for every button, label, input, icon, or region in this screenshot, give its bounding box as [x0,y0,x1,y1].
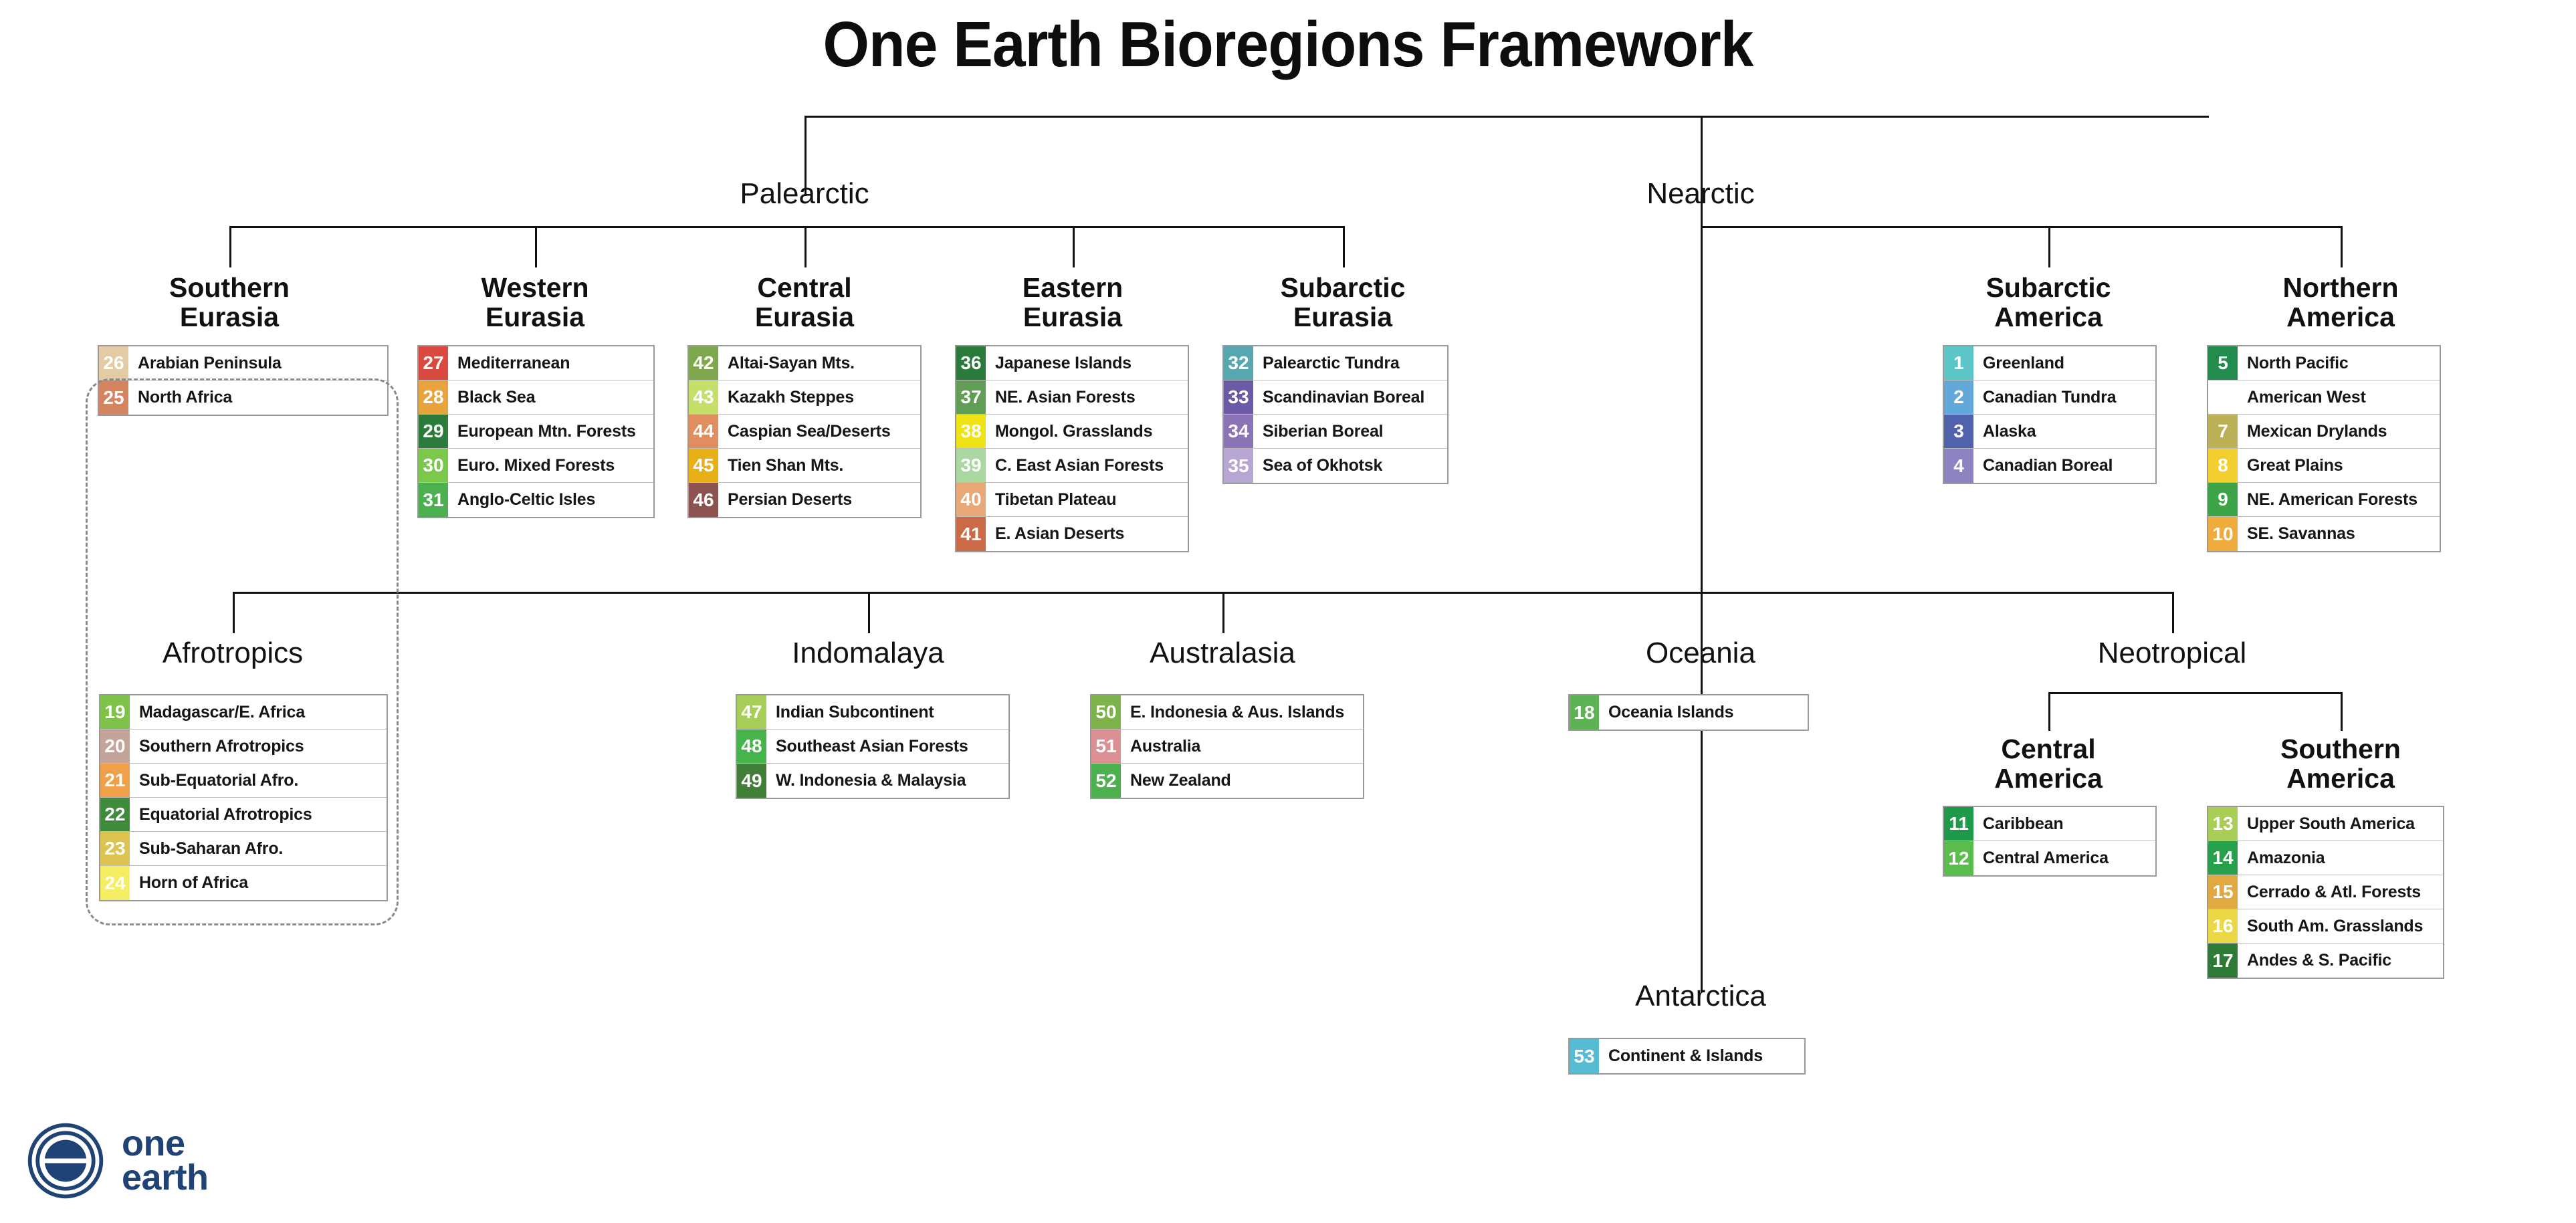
group-afrotropics: 19Madagascar/E. Africa20Southern Afrotro… [99,694,388,901]
bioregion-row[interactable]: 33Scandinavian Boreal [1224,380,1447,415]
subrealm-subarctic-eurasia: Subarctic Eurasia [1209,273,1477,332]
realm-nearctic: Nearctic [1567,179,1834,209]
connector-southern-eurasia [229,226,231,267]
bioregion-row[interactable]: 20Southern Afrotropics [100,730,387,764]
bioregion-label: Southern Afrotropics [130,730,387,763]
bioregion-label: Mongol. Grasslands [986,415,1188,448]
bioregion-number: 10 [2208,517,2238,551]
bioregion-row[interactable]: 50E. Indonesia & Aus. Islands [1091,695,1363,730]
bioregion-row[interactable]: 17Andes & S. Pacific [2208,943,2443,978]
bioregion-label: Scandinavian Boreal [1253,380,1447,414]
bioregion-label: NE. Asian Forests [986,380,1188,414]
bioregion-number: 11 [1944,807,1973,841]
one-earth-logo[interactable]: one earth [27,1122,209,1200]
bioregion-number: 33 [1224,380,1253,414]
bioregion-label: Altai-Sayan Mts. [718,346,920,380]
bioregion-number: 36 [956,346,986,380]
group-indomalaya: 47Indian Subcontinent48Southeast Asian F… [736,694,1010,799]
bioregion-label: American West [2238,380,2440,414]
bioregion-number: 32 [1224,346,1253,380]
bioregion-row[interactable]: 7Mexican Drylands [2208,415,2440,449]
subrealm-eastern-eurasia: Eastern Eurasia [939,273,1206,332]
bioregion-label: Black Sea [448,380,653,414]
bioregion-number: 14 [2208,841,2238,875]
bioregion-number: 7 [2208,415,2238,448]
bioregion-row[interactable]: 12Central America [1944,841,2155,875]
realm-oceania: Oceania [1567,639,1834,668]
bioregion-row[interactable]: 14Amazonia [2208,841,2443,875]
bioregion-label: Oceania Islands [1599,695,1808,730]
bioregion-label: Equatorial Afrotropics [130,798,387,831]
bioregion-row[interactable]: 44Caspian Sea/Deserts [689,415,920,449]
bioregion-row[interactable]: 24Horn of Africa [100,866,387,900]
connector-australasia [1222,592,1224,633]
bioregion-row[interactable]: 41E. Asian Deserts [956,517,1188,551]
connector-northern-america [2341,226,2343,267]
bioregion-list: 11Caribbean12Central America [1943,806,2157,877]
bioregion-list: 53Continent & Islands [1568,1038,1806,1075]
bioregion-label: Tibetan Plateau [986,483,1188,516]
bioregion-row[interactable]: 49W. Indonesia & Malaysia [737,764,1008,798]
bioregion-list: 13Upper South America14Amazonia15Cerrado… [2207,806,2444,979]
bioregion-number: 2 [1944,380,1973,414]
bioregion-number: 53 [1570,1039,1599,1073]
group-oceania: 18Oceania Islands [1568,694,1809,731]
bioregion-list: 36Japanese Islands37NE. Asian Forests38M… [955,345,1189,552]
logo-line-one: one [122,1127,209,1161]
bioregion-row[interactable]: 3Alaska [1944,415,2155,449]
connector-indomalaya [868,592,870,633]
bioregion-list: 47Indian Subcontinent48Southeast Asian F… [736,694,1010,799]
bioregion-label: Sea of Okhotsk [1253,449,1447,483]
bioregion-label: W. Indonesia & Malaysia [766,764,1008,798]
bioregion-number: 34 [1224,415,1253,448]
subrealm-central-eurasia: Central Eurasia [671,273,938,332]
bioregion-number: 26 [99,346,128,380]
bioregion-row[interactable]: 45Tien Shan Mts. [689,449,920,483]
bioregion-row[interactable]: 18Oceania Islands [1570,695,1808,730]
bioregion-row[interactable]: 46Persian Deserts [689,483,920,517]
bioregion-label: Anglo-Celtic Isles [448,483,653,517]
bioregion-number: 35 [1224,449,1253,483]
bioregion-label: SE. Savannas [2238,517,2440,551]
bioregion-number: 17 [2208,943,2238,978]
bioregion-row[interactable]: 10SE. Savannas [2208,517,2440,551]
group-subarctic-america: 1Greenland2Canadian Tundra3Alaska4Canadi… [1943,345,2157,484]
bioregion-number: 5 [2208,346,2238,380]
bioregion-label: Amazonia [2238,841,2443,875]
bioregion-label: Continent & Islands [1599,1039,1804,1073]
bioregion-number: 46 [689,483,718,517]
connector-palearctic-bus [229,226,1345,228]
bioregion-row[interactable]: 48Southeast Asian Forests [737,730,1008,764]
group-southern-eurasia: 26Arabian Peninsula25North Africa [98,345,389,416]
bioregion-row[interactable]: 4Canadian Boreal [1944,449,2155,483]
connector-central-spine [1701,116,1703,992]
bioregion-label: Palearctic Tundra [1253,346,1447,380]
realm-afrotropics: Afrotropics [99,639,366,668]
bioregion-list: 18Oceania Islands [1568,694,1809,731]
group-eastern-eurasia: 36Japanese Islands37NE. Asian Forests38M… [955,345,1189,552]
page-title: One Earth Bioregions Framework [90,8,2486,82]
realm-australasia: Australasia [1089,639,1356,668]
bioregion-row[interactable]: 40Tibetan Plateau [956,483,1188,517]
globe-icon [27,1122,104,1200]
realm-indomalaya: Indomalaya [734,639,1002,668]
bioregion-label: Australia [1121,730,1363,763]
bioregion-label: NE. American Forests [2238,483,2440,516]
bioregion-number: 20 [100,730,130,763]
bioregion-number: 44 [689,415,718,448]
bioregion-label: Mediterranean [448,346,653,380]
bioregion-label: Euro. Mixed Forests [448,449,653,482]
bioregion-label: North Africa [128,380,387,415]
bioregion-label: Alaska [1973,415,2155,448]
bioregion-number: 16 [2208,909,2238,943]
bioregion-number: 8 [2208,449,2238,482]
bioregion-number: 1 [1944,346,1973,380]
group-central-eurasia: 42Altai-Sayan Mts.43Kazakh Steppes44Casp… [687,345,922,518]
connector-afrotropics [233,592,235,633]
connector-southern-america [2341,692,2343,731]
bioregion-list: 1Greenland2Canadian Tundra3Alaska4Canadi… [1943,345,2157,484]
bioregion-row[interactable]: 31Anglo-Celtic Isles [419,483,653,517]
bioregion-row[interactable]: 8Great Plains [2208,449,2440,483]
connector-western-eurasia [535,226,537,267]
bioregion-list: 27Mediterranean28Black Sea29European Mtn… [417,345,655,518]
bioregion-row[interactable]: 21Sub-Equatorial Afro. [100,764,387,798]
bioregion-row[interactable]: 32Palearctic Tundra [1224,346,1447,380]
bioregion-number: 49 [737,764,766,798]
bioregion-row[interactable]: 30Euro. Mixed Forests [419,449,653,483]
bioregion-label: European Mtn. Forests [448,415,653,448]
bioregion-label: Madagascar/E. Africa [130,695,387,729]
bioregion-number: 9 [2208,483,2238,516]
subrealm-central-america: Central America [1915,734,2182,794]
bioregion-list: 42Altai-Sayan Mts.43Kazakh Steppes44Casp… [687,345,922,518]
bioregion-label: Great Plains [2238,449,2440,482]
bioregion-number: 42 [689,346,718,380]
bioregion-label: New Zealand [1121,764,1363,798]
connector-subarctic-eurasia [1343,226,1345,267]
bioregion-row[interactable]: 22Equatorial Afrotropics [100,798,387,832]
bioregion-row[interactable]: 2Canadian Tundra [1944,380,2155,415]
bioregion-row[interactable]: 42Altai-Sayan Mts. [689,346,920,380]
bioregion-row[interactable]: 19Madagascar/E. Africa [100,695,387,730]
subrealm-southern-eurasia: Southern Eurasia [96,273,363,332]
bioregion-row[interactable]: 51Australia [1091,730,1363,764]
group-western-eurasia: 27Mediterranean28Black Sea29European Mtn… [417,345,655,518]
bioregion-number: 48 [737,730,766,763]
bioregion-number: 24 [100,866,130,900]
bioregion-number: 23 [100,832,130,865]
bioregion-row[interactable]: 16South Am. Grasslands [2208,909,2443,943]
bioregion-number: 13 [2208,807,2238,841]
bioregion-label: Sub-Equatorial Afro. [130,764,387,797]
bioregion-row[interactable]: 13Upper South America [2208,807,2443,841]
bioregion-row[interactable]: 36Japanese Islands [956,346,1188,380]
bioregion-row[interactable]: 9NE. American Forests [2208,483,2440,517]
bioregion-row[interactable]: 26Arabian Peninsula [99,346,387,380]
bioregion-number: 47 [737,695,766,729]
bioregion-label: Persian Deserts [718,483,920,517]
bioregion-label: E. Indonesia & Aus. Islands [1121,695,1363,729]
bioregion-number: 41 [956,517,986,551]
bioregion-row[interactable]: 15Cerrado & Atl. Forests [2208,875,2443,909]
group-antarctica: 53Continent & Islands [1568,1038,1806,1075]
bioregion-label: Siberian Boreal [1253,415,1447,448]
bioregion-label: Caribbean [1973,807,2155,841]
bioregion-number: 51 [1091,730,1121,763]
bioregion-number: 40 [956,483,986,516]
bioregion-row[interactable]: 52New Zealand [1091,764,1363,798]
bioregion-number: 25 [99,380,128,415]
bioregion-list: 50E. Indonesia & Aus. Islands51Australia… [1090,694,1364,799]
bioregion-label: Greenland [1973,346,2155,380]
bioregion-row[interactable]: 39C. East Asian Forests [956,449,1188,483]
realm-antarctica: Antarctica [1567,982,1834,1011]
bioregion-label: Canadian Boreal [1973,449,2155,483]
connector-second-tier-bus [233,592,2172,594]
bioregion-label: Arabian Peninsula [128,346,387,380]
bioregion-number: 30 [419,449,448,482]
logo-line-earth: earth [122,1161,209,1195]
bioregion-number: 3 [1944,415,1973,448]
group-central-america: 11Caribbean12Central America [1943,806,2157,877]
bioregion-row[interactable]: 6American West [2208,380,2440,415]
connector-root-horizontal [804,116,2209,118]
bioregion-label: Southeast Asian Forests [766,730,1008,763]
bioregion-number: 27 [419,346,448,380]
bioregion-label: Horn of Africa [130,866,387,900]
bioregion-row[interactable]: 43Kazakh Steppes [689,380,920,415]
subrealm-northern-america: Northern America [2207,273,2474,332]
bioregion-label: Cerrado & Atl. Forests [2238,875,2443,909]
group-australasia: 50E. Indonesia & Aus. Islands51Australia… [1090,694,1364,799]
bioregion-row[interactable]: 27Mediterranean [419,346,653,380]
bioregion-row[interactable]: 5North Pacific [2208,346,2440,380]
bioregion-label: C. East Asian Forests [986,449,1188,482]
connector-neotropical-bus [2048,692,2343,694]
bioregion-label: E. Asian Deserts [986,517,1188,551]
connector-eastern-eurasia [1073,226,1075,267]
bioregion-row[interactable]: 37NE. Asian Forests [956,380,1188,415]
bioregion-label: Tien Shan Mts. [718,449,920,482]
bioregion-number: 4 [1944,449,1973,483]
group-subarctic-eurasia: 32Palearctic Tundra33Scandinavian Boreal… [1222,345,1448,484]
logo-wordmark: one earth [122,1127,209,1195]
bioregion-number: 19 [100,695,130,729]
connector-neotropical [2172,592,2174,633]
bioregion-number: 45 [689,449,718,482]
bioregion-list: 26Arabian Peninsula25North Africa [98,345,389,416]
bioregion-label: Central America [1973,841,2155,875]
bioregion-label: North Pacific [2238,346,2440,380]
bioregion-list: 5North Pacific6American West7Mexican Dry… [2207,345,2441,552]
bioregion-label: South Am. Grasslands [2238,909,2443,943]
bioregion-label: Kazakh Steppes [718,380,920,414]
bioregion-number: 12 [1944,841,1973,875]
connector-nearctic-spine-link [1701,226,2052,228]
bioregion-number: 43 [689,380,718,414]
bioregion-row[interactable]: 34Siberian Boreal [1224,415,1447,449]
bioregion-number: 52 [1091,764,1121,798]
bioregion-number: 38 [956,415,986,448]
bioregion-row[interactable]: 38Mongol. Grasslands [956,415,1188,449]
bioregion-row[interactable]: 47Indian Subcontinent [737,695,1008,730]
subrealm-western-eurasia: Western Eurasia [401,273,669,332]
bioregion-label: Caspian Sea/Deserts [718,415,920,448]
bioregion-number: 31 [419,483,448,517]
bioregion-label: Indian Subcontinent [766,695,1008,729]
bioregion-number: 21 [100,764,130,797]
connector-nearctic-bus [2048,226,2343,228]
bioregion-row[interactable]: 28Black Sea [419,380,653,415]
connector-central-eurasia [804,226,807,267]
bioregion-number: 28 [419,380,448,414]
bioregion-label: Canadian Tundra [1973,380,2155,414]
bioregion-list: 32Palearctic Tundra33Scandinavian Boreal… [1222,345,1448,484]
subrealm-subarctic-america: Subarctic America [1915,273,2182,332]
bioregion-number: 37 [956,380,986,414]
bioregion-list: 19Madagascar/E. Africa20Southern Afrotro… [99,694,388,901]
bioregion-number: 6 [2208,380,2238,414]
realm-palearctic: Palearctic [671,179,938,209]
bioregion-row[interactable]: 35Sea of Okhotsk [1224,449,1447,483]
group-northern-america: 5North Pacific6American West7Mexican Dry… [2207,345,2441,552]
bioregion-label: Sub-Saharan Afro. [130,832,387,865]
bioregion-number: 39 [956,449,986,482]
bioregion-row[interactable]: 23Sub-Saharan Afro. [100,832,387,866]
realm-neotropical: Neotropical [2038,639,2306,668]
bioregion-number: 29 [419,415,448,448]
bioregion-label: Upper South America [2238,807,2443,841]
bioregion-label: Japanese Islands [986,346,1188,380]
bioregion-row[interactable]: 1Greenland [1944,346,2155,380]
bioregion-number: 15 [2208,875,2238,909]
bioregion-row[interactable]: 25North Africa [99,380,387,415]
bioregion-number: 22 [100,798,130,831]
connector-central-america [2048,692,2050,731]
bioregion-row[interactable]: 53Continent & Islands [1570,1039,1804,1073]
subrealm-southern-america: Southern America [2207,734,2474,794]
bioregion-label: Andes & S. Pacific [2238,943,2443,978]
bioregion-label: Mexican Drylands [2238,415,2440,448]
bioregion-number: 50 [1091,695,1121,729]
bioregion-number: 18 [1570,695,1599,730]
bioregion-row[interactable]: 29European Mtn. Forests [419,415,653,449]
connector-subarctic-america [2048,226,2050,267]
bioregion-row[interactable]: 11Caribbean [1944,807,2155,841]
group-southern-america: 13Upper South America14Amazonia15Cerrado… [2207,806,2444,979]
